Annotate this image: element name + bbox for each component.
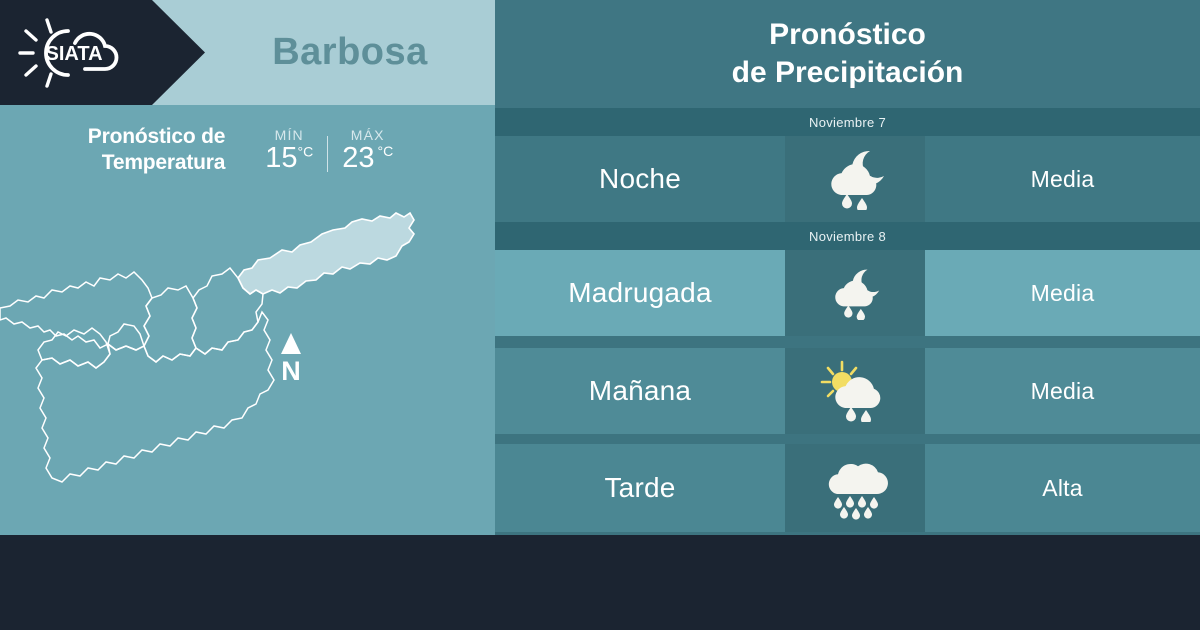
forecast-level-label: Alta — [1042, 475, 1082, 502]
forecast-period-label: Noche — [599, 163, 681, 195]
temperature-max-unit: °C — [377, 143, 393, 159]
temperature-max-label: MÁX — [351, 127, 385, 143]
forecast-row-tarde: Tarde Alta — [495, 444, 1200, 532]
forecast-row-madrugada: Madrugada Media — [495, 250, 1200, 336]
map-svg: N — [0, 190, 495, 535]
temperature-max-value: 23 — [342, 142, 374, 174]
map-region-bello — [0, 272, 152, 350]
siata-logo: SIATA — [14, 12, 142, 94]
map-region-medellin — [36, 312, 274, 482]
temperature-min: MÍN 15°C — [251, 127, 327, 173]
compass-rose: N — [281, 333, 301, 386]
forecast-row-noche: Noche Media — [495, 136, 1200, 222]
forecast-title-line2: de Precipitación — [732, 54, 964, 92]
forecast-level-cell: Media — [925, 250, 1200, 336]
moon-cloud-rain-icon — [825, 266, 885, 320]
temperature-values: MÍN 15°C MÁX 23°C — [251, 127, 407, 173]
date-band-nov7: Noviembre 7 — [495, 108, 1200, 136]
temperature-max-value-group: 23°C — [342, 144, 393, 173]
temperature-max: MÁX 23°C — [328, 127, 407, 173]
temperature-title-line2: Temperatura — [88, 150, 225, 176]
aburra-valley-map: N — [0, 190, 495, 535]
brand-bar: SIATA Barbosa — [0, 0, 495, 105]
forecast-level-cell: Media — [925, 136, 1200, 222]
forecast-level-cell: Media — [925, 348, 1200, 434]
forecast-title-line1: Pronóstico — [769, 16, 926, 54]
forecast-icon-cell — [785, 250, 925, 336]
sun-cloud-rain-icon — [819, 360, 891, 422]
date-band-nov8: Noviembre 8 — [495, 222, 1200, 250]
forecast-title: Pronóstico de Precipitación — [495, 0, 1200, 108]
forecast-period-label: Tarde — [604, 472, 675, 504]
forecast-level-cell: Alta — [925, 444, 1200, 532]
infographic-root: SIATA Barbosa Pronóstico de Temperatura … — [0, 0, 1200, 630]
forecast-level-label: Media — [1031, 166, 1095, 193]
right-panel: Pronóstico de Precipitación Noviembre 7 … — [495, 0, 1200, 535]
temperature-title-line1: Pronóstico de — [88, 124, 225, 150]
forecast-period-label: Mañana — [589, 375, 691, 407]
map-region-itagui — [108, 324, 144, 350]
forecast-period-cell: Madrugada — [495, 250, 785, 336]
forecast-period-cell: Tarde — [495, 444, 785, 532]
temperature-block: Pronóstico de Temperatura MÍN 15°C MÁX 2… — [0, 105, 495, 195]
forecast-period-label: Madrugada — [568, 277, 711, 309]
compass-label: N — [281, 356, 301, 386]
left-panel: SIATA Barbosa Pronóstico de Temperatura … — [0, 0, 495, 535]
temperature-min-label: MÍN — [275, 127, 304, 143]
forecast-icon-cell — [785, 136, 925, 222]
forecast-icon-cell — [785, 348, 925, 434]
siata-logo-text: SIATA — [45, 43, 102, 65]
forecast-level-label: Media — [1031, 378, 1095, 405]
temperature-title: Pronóstico de Temperatura — [88, 124, 225, 175]
forecast-row-manana: Mañana Media — [495, 348, 1200, 434]
forecast-period-cell: Mañana — [495, 348, 785, 434]
forecast-period-cell: Noche — [495, 136, 785, 222]
temperature-min-value-group: 15°C — [265, 144, 313, 173]
moon-cloud-rain-icon — [819, 148, 891, 210]
city-name: Barbosa — [205, 0, 495, 105]
cloud-heavy-rain-icon — [819, 456, 891, 520]
forecast-icon-cell — [785, 444, 925, 532]
temperature-min-value: 15 — [265, 142, 297, 174]
map-region-barbosa — [238, 213, 414, 294]
forecast-level-label: Media — [1031, 280, 1095, 307]
footer: @siatamedellin www.siata.gov.co Con el a… — [0, 535, 1200, 630]
temperature-min-unit: °C — [297, 143, 313, 159]
